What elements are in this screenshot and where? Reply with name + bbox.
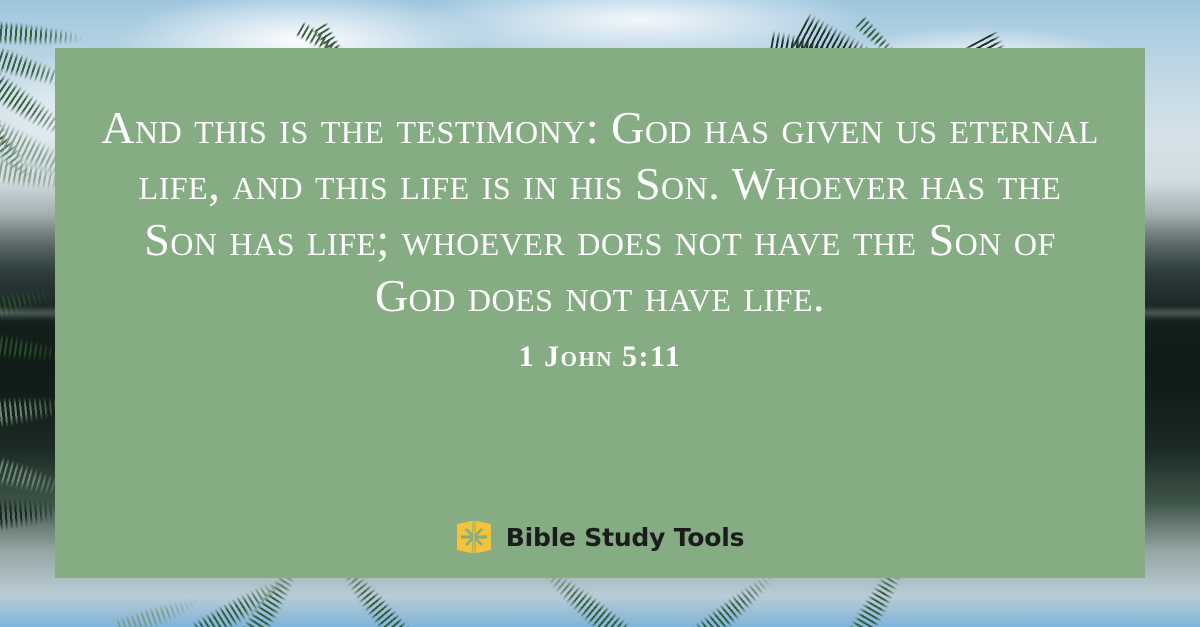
verse-text: And this is the testimony: God has given… [100,100,1100,324]
verse-panel: And this is the testimony: God has given… [55,48,1145,578]
brand-name: Bible Study Tools [506,525,745,550]
verse-card: And this is the testimony: God has given… [0,0,1200,627]
brand-logo[interactable]: Bible Study Tools [55,520,1145,554]
verse-reference: 1 John 5:11 [519,338,682,376]
open-book-starburst-icon [456,520,492,554]
